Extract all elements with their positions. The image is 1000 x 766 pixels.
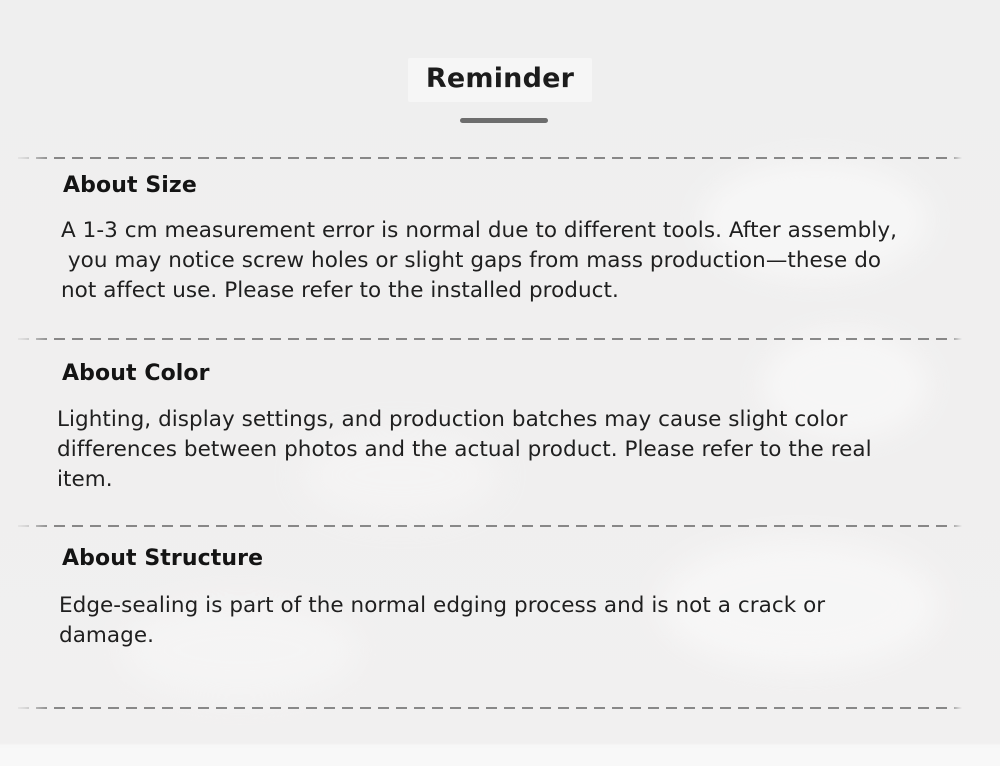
title-underline-rule: [460, 118, 548, 123]
section-body-about-color: Lighting, display settings, and producti…: [0, 405, 1000, 495]
section-body-about-structure: Edge-sealing is part of the normal edgin…: [0, 591, 1000, 651]
reminder-page: Reminder About Size A 1-3 cm measurement…: [0, 0, 1000, 766]
page-title-chip: Reminder: [408, 58, 592, 102]
footer-strip: [0, 748, 1000, 766]
section-divider-after-size: [0, 338, 1000, 340]
page-title: Reminder: [426, 63, 574, 94]
section-divider-bottom: [0, 707, 1000, 709]
section-heading-about-color: About Color: [62, 360, 1000, 388]
section-about-size: About Size A 1-3 cm measurement error is…: [0, 172, 1000, 306]
section-heading-about-structure: About Structure: [62, 545, 1000, 573]
page-title-container: Reminder: [0, 58, 1000, 102]
section-heading-about-size: About Size: [63, 172, 1000, 200]
section-about-color: About Color Lighting, display settings, …: [0, 360, 1000, 495]
section-about-structure: About Structure Edge-sealing is part of …: [0, 545, 1000, 651]
section-body-about-size: A 1-3 cm measurement error is normal due…: [0, 216, 1000, 306]
section-divider-after-color: [0, 525, 1000, 527]
section-divider-top: [0, 157, 1000, 159]
